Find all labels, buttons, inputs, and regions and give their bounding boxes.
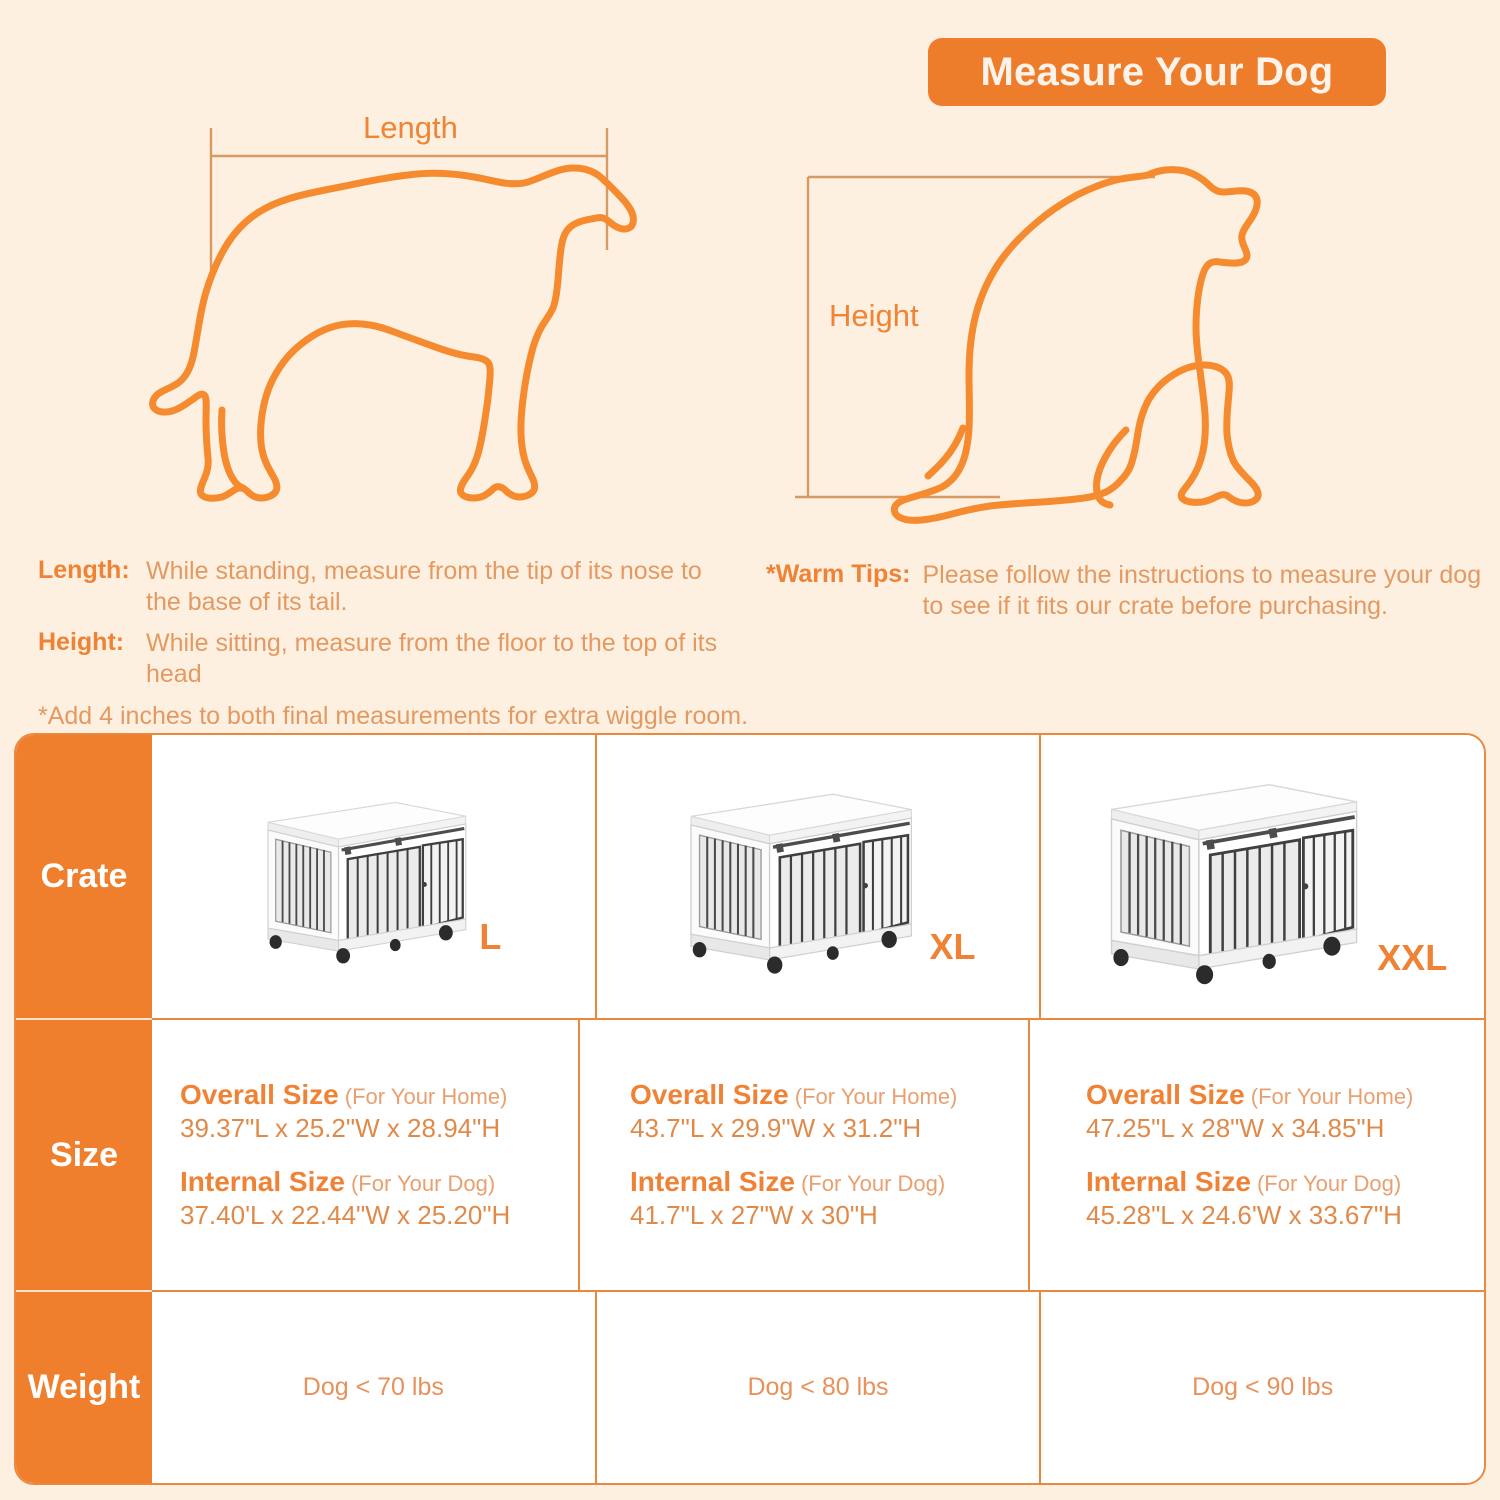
- dog-crate-furniture-icon: [245, 782, 475, 972]
- table-row-crate: L: [152, 735, 1484, 1020]
- instruction-height-row: Height: While sitting, measure from the …: [38, 628, 738, 689]
- table-row-label-column: Crate Size Weight: [16, 735, 152, 1483]
- internal-size-paren: (For Your Dog): [801, 1171, 945, 1196]
- sitting-dog-outline-icon: [894, 170, 1258, 521]
- weight-cell-xl: Dog < 80 lbs: [597, 1292, 1042, 1483]
- instruction-length-row: Length: While standing, measure from the…: [38, 556, 738, 617]
- size-cell-xxl: Overall Size(For Your Home) 47.25"L x 28…: [1030, 1020, 1484, 1290]
- crate-cell-xxl: XXL: [1041, 735, 1484, 1018]
- internal-size-label: Internal Size: [180, 1166, 345, 1197]
- instruction-height-text: While sitting, measure from the floor to…: [146, 628, 738, 689]
- row-label-crate: Crate: [16, 735, 152, 1020]
- warm-tips-key: *Warm Tips:: [766, 560, 910, 589]
- internal-size-label: Internal Size: [1086, 1166, 1251, 1197]
- weight-value-xxl: Dog < 90 lbs: [1192, 1373, 1333, 1402]
- infographic-page: Measure Your Dog: [0, 0, 1500, 1500]
- overall-size-label: Overall Size: [1086, 1079, 1245, 1110]
- dog-crate-furniture-icon: [1078, 760, 1373, 993]
- overall-size-paren: (For Your Home): [795, 1084, 958, 1109]
- overall-size-value-xxl: 47.25"L x 28"W x 34.85"H: [1086, 1113, 1472, 1144]
- height-dimension-line: [795, 177, 1155, 497]
- instruction-height-key: Height:: [38, 628, 146, 657]
- internal-size-paren: (For Your Dog): [1257, 1171, 1401, 1196]
- overall-size-value-xl: 43.7"L x 29.9"W x 31.2"H: [630, 1113, 1016, 1144]
- crate-cell-l: L: [152, 735, 597, 1018]
- row-label-size: Size: [16, 1020, 152, 1292]
- spec-comparison-table: Crate Size Weight: [14, 733, 1486, 1485]
- internal-size-value-l: 37.40'L x 22.44"W x 25.20"H: [180, 1200, 566, 1231]
- size-tag-xxl: XXL: [1377, 937, 1447, 979]
- measurement-instructions: Length: While standing, measure from the…: [38, 556, 738, 731]
- standing-dog-outline-icon: [153, 168, 634, 498]
- overall-size-paren: (For Your Home): [345, 1084, 508, 1109]
- height-dimension-label: Height: [829, 298, 919, 334]
- size-cell-l: Overall Size(For Your Home) 39.37"L x 25…: [152, 1020, 580, 1290]
- overall-size-label: Overall Size: [180, 1079, 339, 1110]
- warm-tips-block: *Warm Tips: Please follow the instructio…: [766, 560, 1486, 621]
- weight-value-l: Dog < 70 lbs: [303, 1373, 444, 1402]
- instruction-length-text: While standing, measure from the tip of …: [146, 556, 738, 617]
- table-row-size: Overall Size(For Your Home) 39.37"L x 25…: [152, 1020, 1484, 1292]
- weight-cell-xxl: Dog < 90 lbs: [1041, 1292, 1484, 1483]
- internal-size-value-xl: 41.7"L x 27"W x 30"H: [630, 1200, 1016, 1231]
- instruction-wiggle-note: *Add 4 inches to both final measurements…: [38, 702, 738, 731]
- internal-size-heading: Internal Size(For Your Dog): [1086, 1166, 1472, 1198]
- crate-cell-xl: XL: [597, 735, 1042, 1018]
- internal-size-heading: Internal Size(For Your Dog): [630, 1166, 1016, 1198]
- length-dimension-label: Length: [363, 110, 458, 146]
- overall-size-value-l: 39.37"L x 25.2"W x 28.94"H: [180, 1113, 566, 1144]
- row-label-weight: Weight: [16, 1292, 152, 1483]
- dog-measurement-diagram: Length Height: [0, 0, 1500, 545]
- size-tag-xl: XL: [930, 926, 976, 968]
- instruction-length-key: Length:: [38, 556, 146, 585]
- internal-size-value-xxl: 45.28"L x 24.6'W x 33.67"H: [1086, 1200, 1472, 1231]
- dog-crate-furniture-icon: [661, 772, 926, 982]
- overall-size-label: Overall Size: [630, 1079, 789, 1110]
- overall-size-heading: Overall Size(For Your Home): [630, 1079, 1016, 1111]
- overall-size-heading: Overall Size(For Your Home): [1086, 1079, 1472, 1111]
- internal-size-label: Internal Size: [630, 1166, 795, 1197]
- overall-size-heading: Overall Size(For Your Home): [180, 1079, 566, 1111]
- weight-value-xl: Dog < 80 lbs: [747, 1373, 888, 1402]
- size-cell-xl: Overall Size(For Your Home) 43.7"L x 29.…: [580, 1020, 1030, 1290]
- size-tag-l: L: [479, 916, 501, 958]
- overall-size-paren: (For Your Home): [1251, 1084, 1414, 1109]
- table-row-weight: Dog < 70 lbs Dog < 80 lbs Dog < 90 lbs: [152, 1292, 1484, 1483]
- internal-size-heading: Internal Size(For Your Dog): [180, 1166, 566, 1198]
- warm-tips-text: Please follow the instructions to measur…: [922, 560, 1486, 621]
- internal-size-paren: (For Your Dog): [351, 1171, 495, 1196]
- weight-cell-l: Dog < 70 lbs: [152, 1292, 597, 1483]
- table-body: L: [152, 735, 1484, 1483]
